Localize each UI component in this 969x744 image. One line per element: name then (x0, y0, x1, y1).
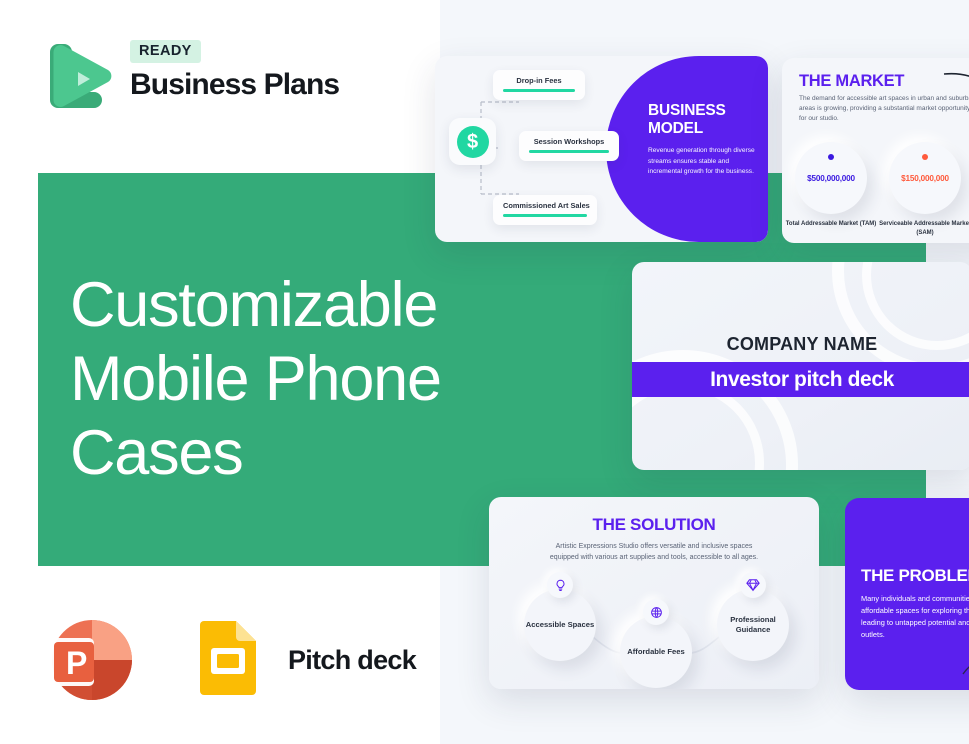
business-model-item-label: Session Workshops (529, 137, 609, 146)
solution-node[interactable]: Accessible Spaces (524, 589, 596, 661)
investor-pitch-deck-label: Investor pitch deck (632, 362, 969, 397)
brand-text-block: READY Business Plans (130, 40, 339, 102)
problem-curve-decoration (961, 648, 969, 682)
business-model-item-bar (503, 89, 575, 92)
sam-dot-icon (922, 154, 928, 160)
format-label: Pitch deck (288, 645, 416, 676)
business-model-item-label: Commissioned Art Sales (503, 201, 587, 210)
business-model-item[interactable]: Session Workshops (519, 131, 619, 161)
powerpoint-icon: P (40, 616, 136, 704)
market-title: THE MARKET (799, 72, 904, 91)
sam-value: $150,000,000 (901, 174, 949, 183)
slide-the-problem[interactable]: THE PROBLEM Many individuals and communi… (845, 498, 969, 690)
tam-value: $500,000,000 (807, 174, 855, 183)
lightbulb-icon (547, 572, 573, 598)
slide-business-model[interactable]: BUSINESS MODEL Revenue generation throug… (435, 56, 768, 242)
diamond-icon (740, 572, 766, 598)
company-name-title: COMPANY NAME (632, 334, 969, 355)
brand-name: Business Plans (130, 68, 339, 102)
market-metric-tam: $500,000,000 (795, 142, 867, 214)
ready-badge: READY (130, 40, 201, 63)
problem-body: Many individuals and communities lack ac… (861, 593, 969, 641)
format-row: P Pitch deck (40, 616, 416, 704)
solution-node[interactable]: Affordable Fees (620, 616, 692, 688)
svg-text:P: P (66, 645, 87, 681)
market-metric-sam: $150,000,000 (889, 142, 961, 214)
sam-caption: Serviceable Addressable Market (SAM) (877, 220, 969, 237)
business-model-item-bar (529, 150, 609, 153)
business-model-item-bar (503, 214, 587, 217)
slide-the-solution[interactable]: THE SOLUTION Artistic Expressions Studio… (489, 497, 819, 689)
dollar-circle-icon: $ (449, 118, 496, 165)
slide-company-name[interactable]: COMPANY NAME Investor pitch deck (632, 262, 969, 470)
solution-node[interactable]: Professional Guidance (717, 589, 789, 661)
market-body: The demand for accessible art spaces in … (799, 94, 969, 124)
play-triangle-logo-icon (40, 36, 112, 116)
tam-caption: Total Addressable Market (TAM) (783, 220, 879, 229)
business-model-item[interactable]: Commissioned Art Sales (493, 195, 597, 225)
business-model-body: Revenue generation through diverse strea… (648, 146, 760, 178)
promo-canvas: READY Business Plans Customizable Mobile… (0, 0, 969, 744)
tam-dot-icon (828, 154, 834, 160)
business-model-item[interactable]: Drop-in Fees (493, 70, 585, 100)
globe-icon (643, 599, 669, 625)
investor-pitch-deck-bar: Investor pitch deck (632, 362, 969, 397)
problem-title: THE PROBLEM (861, 566, 969, 586)
brand-lockup: READY Business Plans (40, 34, 370, 118)
business-model-title: BUSINESS MODEL (648, 102, 760, 138)
business-model-item-label: Drop-in Fees (503, 76, 575, 85)
slide-the-market[interactable]: THE MARKET The demand for accessible art… (782, 58, 969, 243)
google-slides-icon (194, 621, 262, 699)
hero-title: Customizable Mobile Phone Cases (70, 268, 490, 490)
